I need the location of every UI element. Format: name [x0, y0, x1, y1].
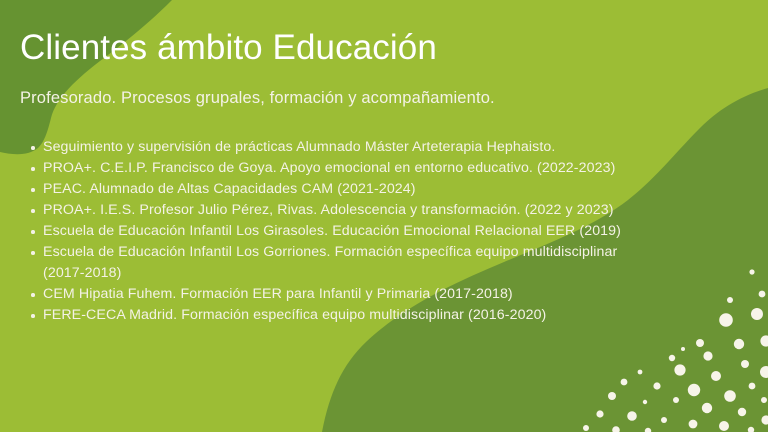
client-list: Seguimiento y supervisión de prácticas A… — [20, 137, 760, 326]
bullet-dot-icon — [31, 167, 35, 171]
list-item-label: Escuela de Educación Infantil Los Gorrio… — [43, 244, 617, 281]
bullet-dot-icon — [31, 314, 35, 318]
bullet-dot-icon — [31, 146, 35, 150]
page-title: Clientes ámbito Educación — [20, 28, 437, 68]
slide-subtitle: Profesorado. Procesos grupales, formació… — [20, 89, 495, 108]
bullet-dot-icon — [31, 293, 35, 297]
list-item-label: Seguimiento y supervisión de prácticas A… — [43, 139, 555, 155]
list-item: Escuela de Educación Infantil Los Giraso… — [20, 221, 760, 242]
list-item: CEM Hipatia Fuhem. Formación EER para In… — [20, 284, 760, 305]
list-item-label: PROA+. I.E.S. Profesor Julio Pérez, Riva… — [43, 202, 614, 218]
bullet-dot-icon — [31, 188, 35, 192]
list-item-label: PROA+. C.E.I.P. Francisco de Goya. Apoyo… — [43, 160, 615, 176]
slide-content: Clientes ámbito Educación Profesorado. P… — [0, 0, 768, 432]
list-item: PEAC. Alumnado de Altas Capacidades CAM … — [20, 179, 760, 200]
list-item: FERE-CECA Madrid. Formación específica e… — [20, 305, 760, 326]
list-item-label: Escuela de Educación Infantil Los Giraso… — [43, 223, 621, 239]
list-item: Escuela de Educación Infantil Los Gorrio… — [20, 242, 660, 284]
bullet-dot-icon — [31, 230, 35, 234]
slide-canvas: Clientes ámbito Educación Profesorado. P… — [0, 0, 768, 432]
list-item: PROA+. C.E.I.P. Francisco de Goya. Apoyo… — [20, 158, 760, 179]
list-item: Seguimiento y supervisión de prácticas A… — [20, 137, 760, 158]
bullet-dot-icon — [31, 251, 35, 255]
list-item-label: PEAC. Alumnado de Altas Capacidades CAM … — [43, 181, 416, 197]
list-item-label: CEM Hipatia Fuhem. Formación EER para In… — [43, 286, 513, 302]
bullet-dot-icon — [31, 209, 35, 213]
list-item-label: FERE-CECA Madrid. Formación específica e… — [43, 307, 546, 323]
list-item: PROA+. I.E.S. Profesor Julio Pérez, Riva… — [20, 200, 760, 221]
